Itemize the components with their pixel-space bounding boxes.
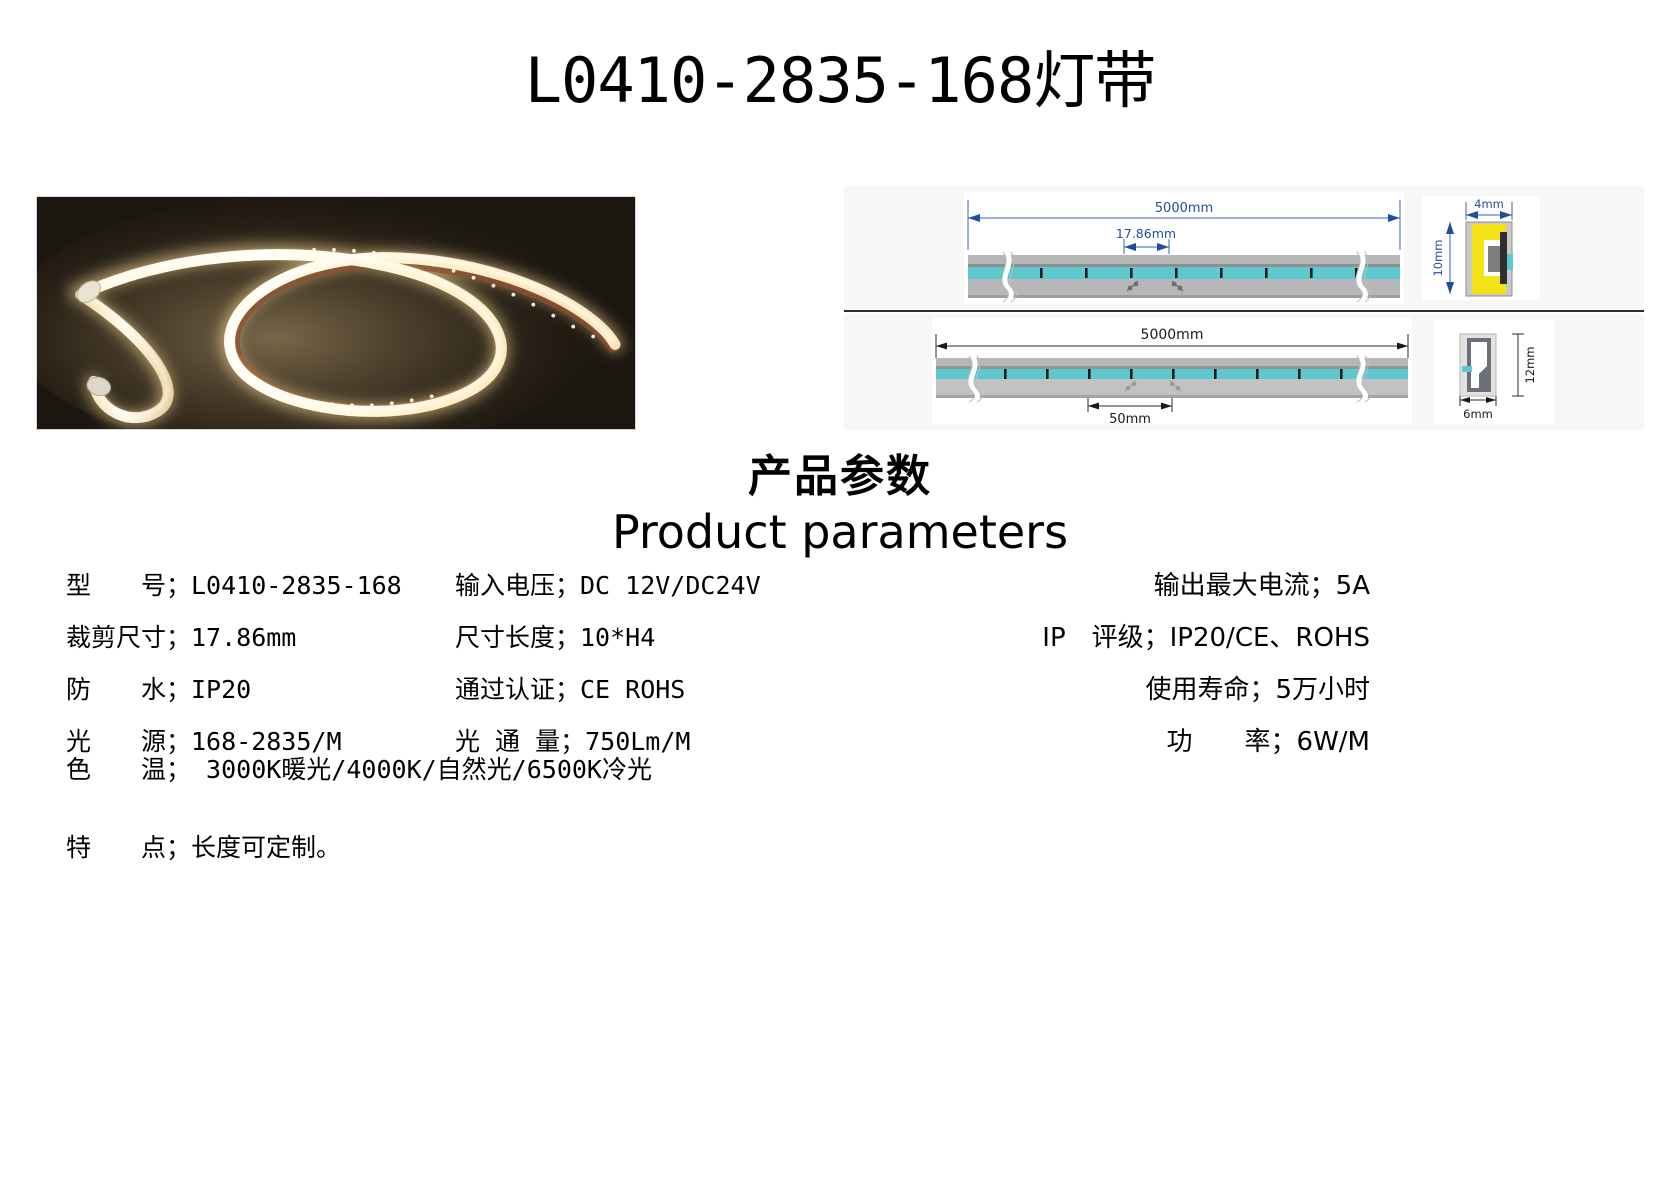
side-cross-section-svg: 12mm 6mm <box>1434 320 1554 424</box>
arrow-left-icon <box>968 214 980 222</box>
arrow-left-icon <box>1088 403 1099 410</box>
param-color-temperature: 色 温； 3000K暖光/4000K/自然光/6500K冷光 <box>66 750 652 786</box>
param-cut-size: 裁剪尺寸；17.86mm <box>66 612 296 664</box>
param-model: 型 号；L0410-2835-168 <box>66 560 402 612</box>
led-strip-coiled-photo <box>37 197 635 430</box>
side-cross-section: 12mm 6mm <box>1434 320 1554 424</box>
parameter-row: 型 号；L0410-2835-168 输入电压；DC 12V/DC24V 输出最… <box>0 560 1680 612</box>
side-view-canvas: 5000mm <box>932 318 1412 424</box>
top-cross-section: 4mm 10mm <box>1422 196 1540 300</box>
param-power: 功 率；6W/M <box>1167 716 1370 768</box>
param-certification: 通过认证；CE ROHS <box>455 664 685 716</box>
param-ip-rating: IP 评级；IP20/CE、ROHS <box>1042 612 1370 664</box>
arrow-up-icon <box>1446 222 1454 234</box>
dim-cut-unit: 17.86mm <box>1116 226 1176 241</box>
arrow-right-icon <box>1157 243 1169 251</box>
arrow-right-icon <box>1388 214 1400 222</box>
param-lifespan: 使用寿命；5万小时 <box>1145 664 1370 716</box>
parameter-row: 防 水；IP20 通过认证；CE ROHS 使用寿命；5万小时 <box>0 664 1680 716</box>
param-input-voltage: 输入电压；DC 12V/DC24V <box>455 560 761 612</box>
param-feature: 特 点；长度可定制。 <box>66 828 341 864</box>
section-heading-cn: 产品参数 <box>0 440 1680 504</box>
param-dimension: 尺寸长度；10*H4 <box>455 612 655 664</box>
arrow-right-icon <box>1500 211 1512 219</box>
arrow-left-icon <box>936 343 947 350</box>
param-waterproof: 防 水；IP20 <box>66 664 251 716</box>
top-view-canvas: 5000mm 17.86mm <box>964 192 1404 304</box>
dim-cross-height-top: 10mm <box>1431 239 1445 276</box>
page-title: L0410-2835-168灯带 <box>0 30 1680 120</box>
arrow-down-icon <box>1446 282 1454 294</box>
dim-cross-width-side: 6mm <box>1463 407 1493 421</box>
arrow-left-icon <box>1466 211 1478 219</box>
arrow-right-icon <box>1397 343 1408 350</box>
top-view-panel: 5000mm 17.86mm <box>844 186 1644 310</box>
product-photo <box>36 196 636 430</box>
product-parameters-table: 型 号；L0410-2835-168 输入电压；DC 12V/DC24V 输出最… <box>0 560 1680 768</box>
technical-drawing-panel: 5000mm 17.86mm <box>844 186 1644 430</box>
param-max-current: 输出最大电流；5A <box>1154 560 1370 612</box>
arrow-right-icon <box>1486 397 1496 403</box>
dim-cross-width-top: 4mm <box>1474 197 1504 211</box>
side-view-panel: 5000mm <box>844 314 1644 430</box>
section-heading-en: Product parameters <box>0 505 1680 559</box>
side-view-svg: 5000mm <box>932 318 1412 424</box>
arrow-left-icon <box>1124 243 1136 251</box>
arrow-right-icon <box>1161 403 1172 410</box>
parameter-row: 裁剪尺寸；17.86mm 尺寸长度；10*H4 IP 评级；IP20/CE、RO… <box>0 612 1680 664</box>
top-view-svg: 5000mm 17.86mm <box>964 192 1404 304</box>
arrow-left-icon <box>1460 397 1470 403</box>
dim-cross-height-side: 12mm <box>1523 346 1537 383</box>
dim-overall-length-side: 5000mm <box>1141 327 1204 343</box>
top-cross-section-svg: 4mm 10mm <box>1422 196 1540 300</box>
dim-overall-length-top: 5000mm <box>1155 201 1213 216</box>
drawing-divider <box>844 310 1644 312</box>
dim-pitch: 50mm <box>1109 412 1151 424</box>
